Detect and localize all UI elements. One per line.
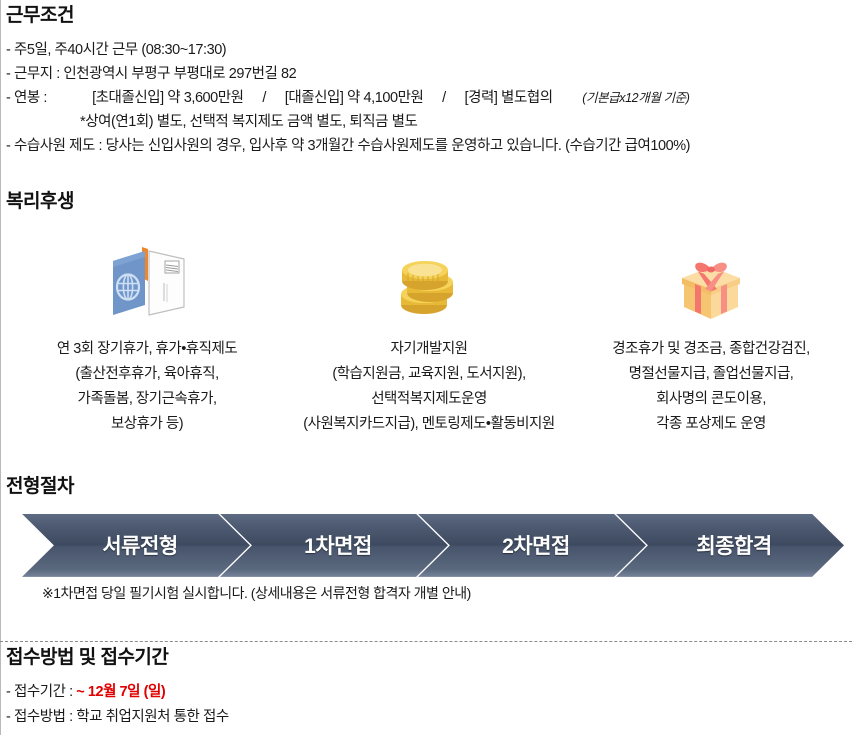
benefit-leave-line-2: 가족돌봄, 장기근속휴가, (10, 387, 284, 412)
benefit-welfare-line-0: 경조휴가 및 경조금, 종합건강검진, (574, 337, 848, 362)
work-conditions-heading: 근무조건 (6, 6, 852, 27)
salary-basis-note: (기본급x12개월 기준) (582, 91, 689, 105)
salary-line: - 연봉 : [초대졸신입] 약 3,600만원 / [대졸신입] 약 4,10… (6, 86, 852, 110)
work-conditions-list: - 주5일, 주40시간 근무 (08:30~17:30) - 근무지 : 인천… (6, 38, 852, 158)
process-steps: 서류전형 1차면접 2차면접 최종합격 (22, 514, 842, 577)
salary-separator-2: / (427, 86, 461, 110)
application-period-label: - 접수기간 : (6, 684, 76, 700)
benefit-self-development-text: 자기개발지원 (학습지원금, 교육지원, 도서지원), 선택적복지제도운영 (사… (292, 337, 566, 437)
page-left-rule (0, 0, 1, 735)
application-deadline-value: ~ 12월 7일 (일) (76, 684, 165, 700)
benefit-self-development-line-3: (사원복지카드지급), 멘토링제도•활동비지원 (292, 412, 566, 437)
application-section: 접수방법 및 접수기간 - 접수기간 : ~ 12월 7일 (일) - 접수방법… (6, 648, 852, 730)
application-period-line: - 접수기간 : ~ 12월 7일 (일) (6, 680, 852, 705)
gift-icon (574, 235, 848, 327)
salary-label: - 연봉 : (6, 86, 47, 110)
benefit-item-leave: 연 3회 장기휴가, 휴가•휴직제도 (출산전후휴가, 육아휴직, 가족돌봄, … (6, 235, 288, 437)
salary-separator-1: / (247, 86, 281, 110)
benefit-self-development-line-1: (학습지원금, 교육지원, 도서지원), (292, 362, 566, 387)
benefit-leave-line-3: 보상휴가 등) (10, 412, 284, 437)
process-heading: 전형절차 (6, 477, 852, 498)
benefit-leave-line-0: 연 3회 장기휴가, 휴가•휴직제도 (10, 337, 284, 362)
benefit-self-development-line-2: 선택적복지제도운영 (292, 387, 566, 412)
work-conditions-section: 근무조건 - 주5일, 주40시간 근무 (08:30~17:30) - 근무지… (6, 6, 852, 158)
process-step-second-interview: 2차면접 (418, 514, 646, 577)
application-list: - 접수기간 : ~ 12월 7일 (일) - 접수방법 : 학교 취업지원처 … (6, 680, 852, 730)
benefit-welfare-text: 경조휴가 및 경조금, 종합건강검진, 명절선물지급, 졸업선물지급, 회사명의… (574, 337, 848, 437)
process-step-label: 서류전형 (94, 530, 177, 560)
process-step-final-pass: 최종합격 (616, 514, 844, 577)
process-step-document-screening: 서류전형 (22, 514, 250, 577)
salary-junior-value: [초대졸신입] 약 3,600만원 (92, 90, 243, 106)
process-step-label: 2차면접 (494, 530, 570, 560)
benefits-columns: 연 3회 장기휴가, 휴가•휴직제도 (출산전후휴가, 육아휴직, 가족돌봄, … (6, 235, 852, 437)
process-step-first-interview: 1차면접 (220, 514, 448, 577)
benefits-heading: 복리후생 (6, 192, 852, 213)
benefit-leave-line-1: (출산전후휴가, 육아휴직, (10, 362, 284, 387)
benefit-self-development-line-0: 자기개발지원 (292, 337, 566, 362)
salary-experienced-value: [경력] 별도협의 (465, 90, 553, 106)
work-schedule-line: - 주5일, 주40시간 근무 (08:30~17:30) (6, 38, 852, 62)
benefit-welfare-line-1: 명절선물지급, 졸업선물지급, (574, 362, 848, 387)
benefit-leave-text: 연 3회 장기휴가, 휴가•휴직제도 (출산전후휴가, 육아휴직, 가족돌봄, … (10, 337, 284, 437)
benefit-welfare-line-2: 회사명의 콘도이용, (574, 387, 848, 412)
passport-icon (10, 235, 284, 327)
process-step-label: 최종합격 (688, 530, 771, 560)
benefit-welfare-line-3: 각종 포상제도 운영 (574, 412, 848, 437)
coins-icon (292, 235, 566, 327)
benefit-item-welfare: 경조휴가 및 경조금, 종합건강검진, 명절선물지급, 졸업선물지급, 회사명의… (570, 235, 852, 437)
work-location-line: - 근무지 : 인천광역시 부평구 부평대로 297번길 82 (6, 62, 852, 86)
application-method-line: - 접수방법 : 학교 취업지원처 통한 접수 (6, 705, 852, 730)
salary-bachelor-value: [대졸신입] 약 4,100만원 (285, 90, 424, 106)
probation-line: - 수습사원 제도 : 당사는 신입사원의 경우, 입사후 약 3개월간 수습사… (6, 134, 852, 158)
process-note: ※1차면접 당일 필기시험 실시합니다. (상세내용은 서류전형 합격자 개별 … (42, 583, 852, 603)
process-section: 전형절차 서류전형 1차면접 2차면접 최종합격 ※1차면접 당일 필기시험 실… (6, 477, 852, 603)
benefits-section: 복리후생 (6, 192, 852, 437)
section-divider (0, 641, 852, 642)
salary-sub-note: *상여(연1회) 별도, 선택적 복지제도 금액 별도, 퇴직금 별도 (6, 110, 852, 134)
application-heading: 접수방법 및 접수기간 (6, 648, 852, 669)
process-step-label: 1차면접 (296, 530, 372, 560)
benefit-item-self-development: 자기개발지원 (학습지원금, 교육지원, 도서지원), 선택적복지제도운영 (사… (288, 235, 570, 437)
